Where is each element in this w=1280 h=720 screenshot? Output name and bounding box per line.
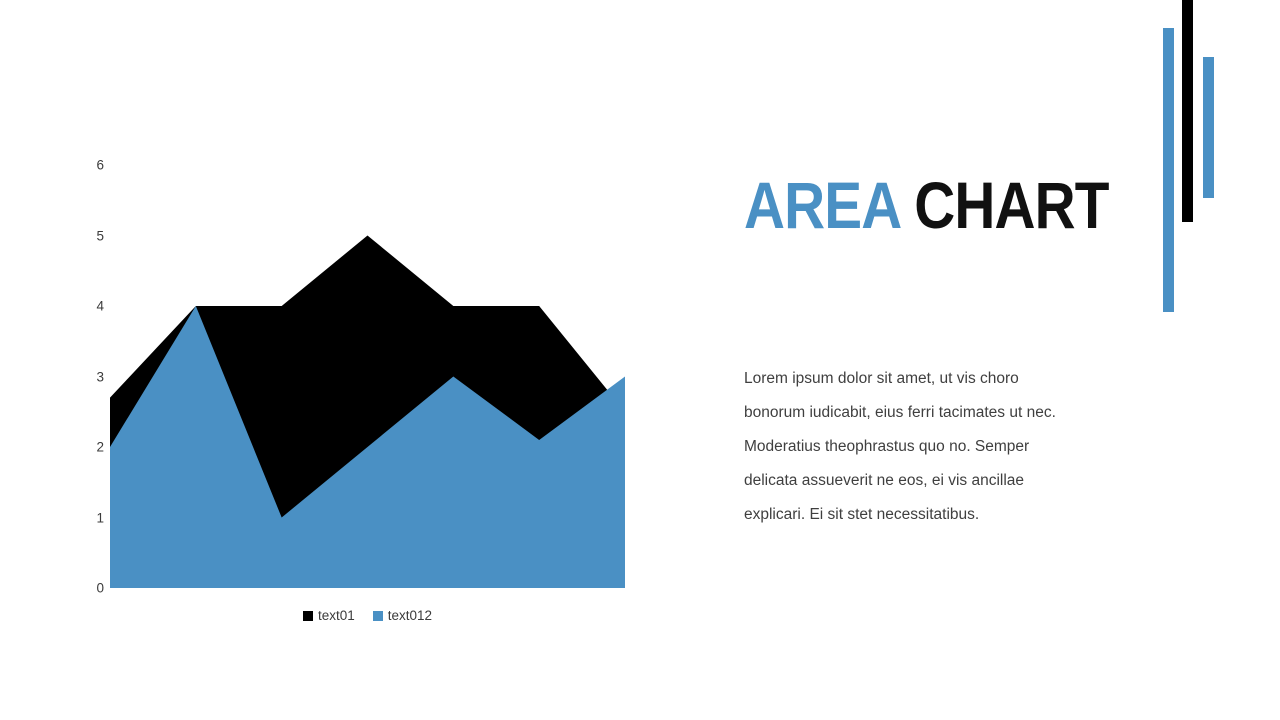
decorative-bar-blue-left [1163, 28, 1174, 312]
legend-entry[interactable]: text01 [303, 608, 355, 623]
chart-legend: text01text012 [110, 608, 625, 623]
decorative-bar-black-middle [1182, 0, 1193, 222]
chart-plot-area [0, 0, 700, 660]
title-accent-word: AREA [744, 168, 899, 242]
legend-label: text01 [318, 608, 355, 623]
area-chart: 0123456 text01text012 [0, 0, 700, 660]
title-main-word: CHART [914, 168, 1108, 242]
decorative-bar-blue-right [1203, 57, 1214, 198]
slide-content-column: AREA CHART [744, 170, 1084, 240]
legend-label: text012 [388, 608, 432, 623]
page-title: AREA CHART [744, 170, 1036, 240]
body-paragraph: Lorem ipsum dolor sit amet, ut vis choro… [744, 362, 1074, 532]
legend-entry[interactable]: text012 [373, 608, 432, 623]
legend-swatch-icon [303, 611, 313, 621]
legend-swatch-icon [373, 611, 383, 621]
